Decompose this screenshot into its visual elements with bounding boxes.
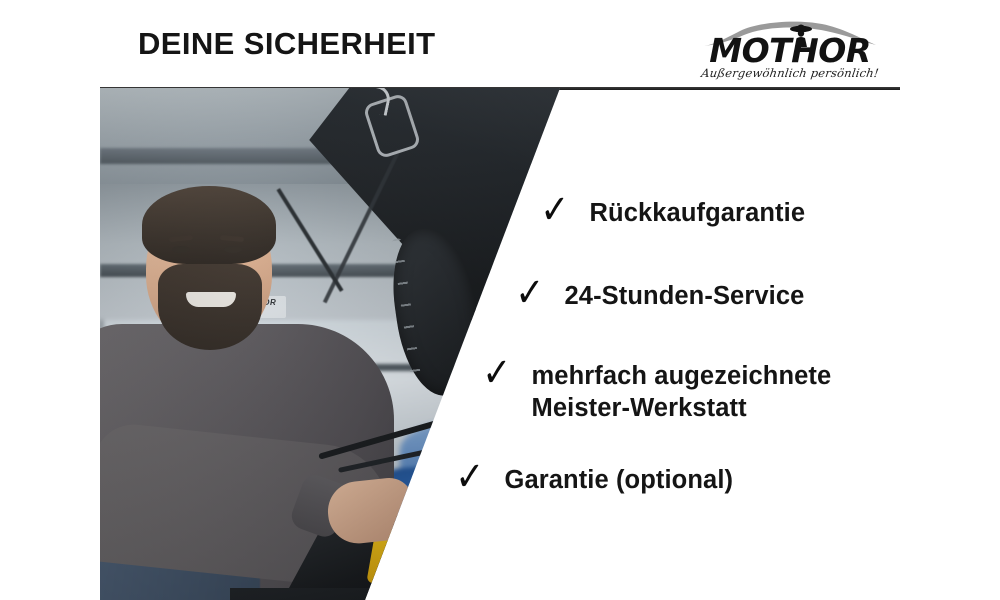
list-item-label: mehrfach augezeichnete Meister-Werkstatt [532,355,832,424]
slide-canvas: DEINE SICHERHEIT MOTHOR Außergewöhnlich … [0,0,1000,600]
logo-wordmark: MOTHOR [700,34,880,67]
page-title: DEINE SICHERHEIT [138,26,436,62]
check-mark-icon: ✓ [482,355,511,392]
list-item-label: Rückkaufgarantie [590,192,806,230]
check-mark-icon: ✓ [455,459,484,496]
list-item: ✓ 24-Stunden-Service [513,275,804,313]
check-mark-icon: ✓ [515,275,544,312]
mothor-logo: MOTHOR Außergewöhnlich persönlich! [700,18,880,80]
list-item: ✓ Rückkaufgarantie [538,192,805,230]
list-item-label: Garantie (optional) [505,459,734,497]
logo-tagline: Außergewöhnlich persönlich! [699,66,881,80]
check-mark-icon: ✓ [540,192,569,229]
list-item: ✓ mehrfach augezeichnete Meister-Werksta… [480,355,831,424]
list-item-label: 24-Stunden-Service [565,275,805,313]
list-item: ✓ Garantie (optional) [453,459,733,497]
benefits-list: ✓ Rückkaufgarantie ✓ 24-Stunden-Service … [0,88,1000,600]
